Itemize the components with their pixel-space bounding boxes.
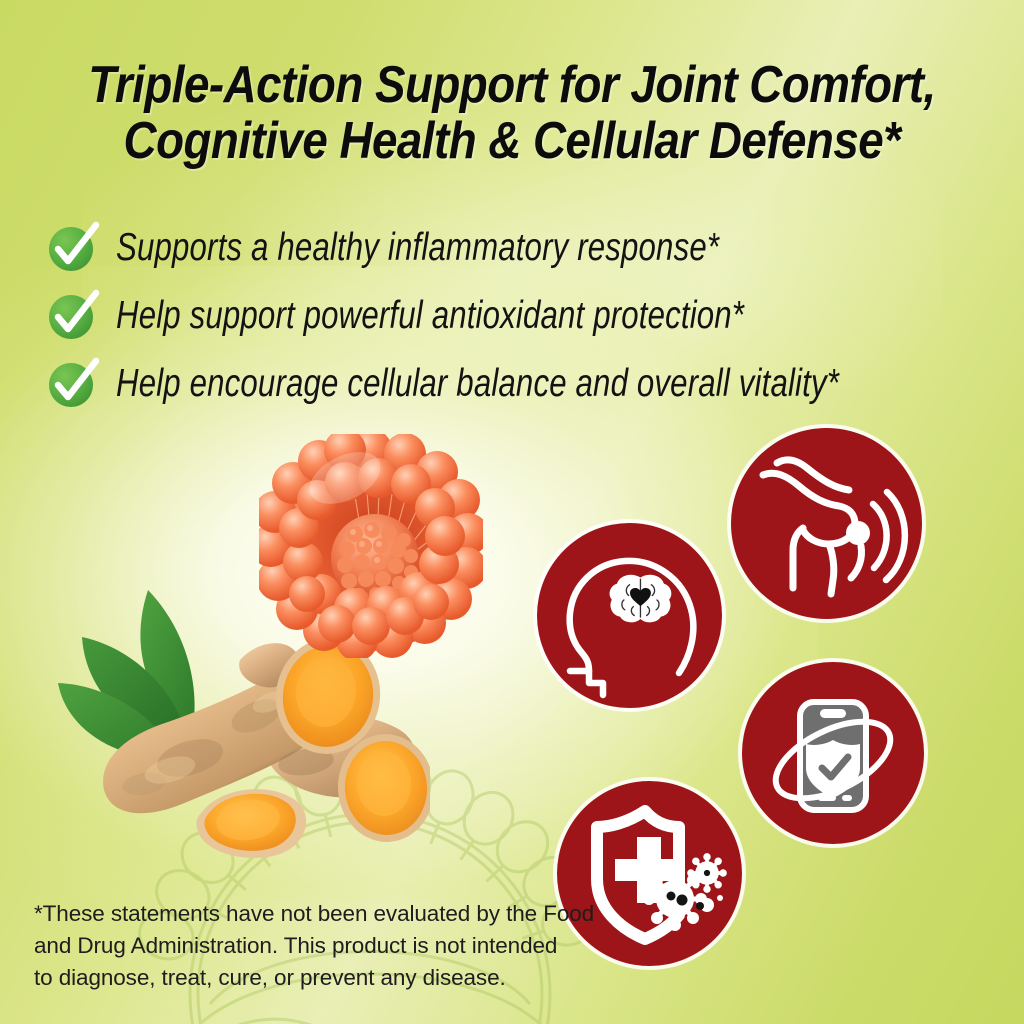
list-item: Supports a healthy inflammatory response… bbox=[44, 213, 984, 281]
check-circle-icon bbox=[44, 354, 102, 412]
list-item-label: Help encourage cellular balance and over… bbox=[116, 364, 839, 403]
list-item-label: Supports a healthy inflammatory response… bbox=[116, 228, 719, 267]
check-circle-icon bbox=[44, 218, 102, 276]
page-title: Triple-Action Support for Joint Comfort,… bbox=[61, 58, 962, 169]
list-item: Help support powerful antioxidant protec… bbox=[44, 281, 984, 349]
benefit-list: Supports a healthy inflammatory response… bbox=[44, 213, 984, 417]
list-item: Help encourage cellular balance and over… bbox=[44, 349, 984, 417]
product-benefits-poster: Triple-Action Support for Joint Comfort,… bbox=[0, 0, 1024, 1024]
check-circle-icon bbox=[44, 286, 102, 344]
fda-disclaimer: *These statements have not been evaluate… bbox=[34, 898, 634, 994]
list-item-label: Help support powerful antioxidant protec… bbox=[116, 296, 744, 335]
